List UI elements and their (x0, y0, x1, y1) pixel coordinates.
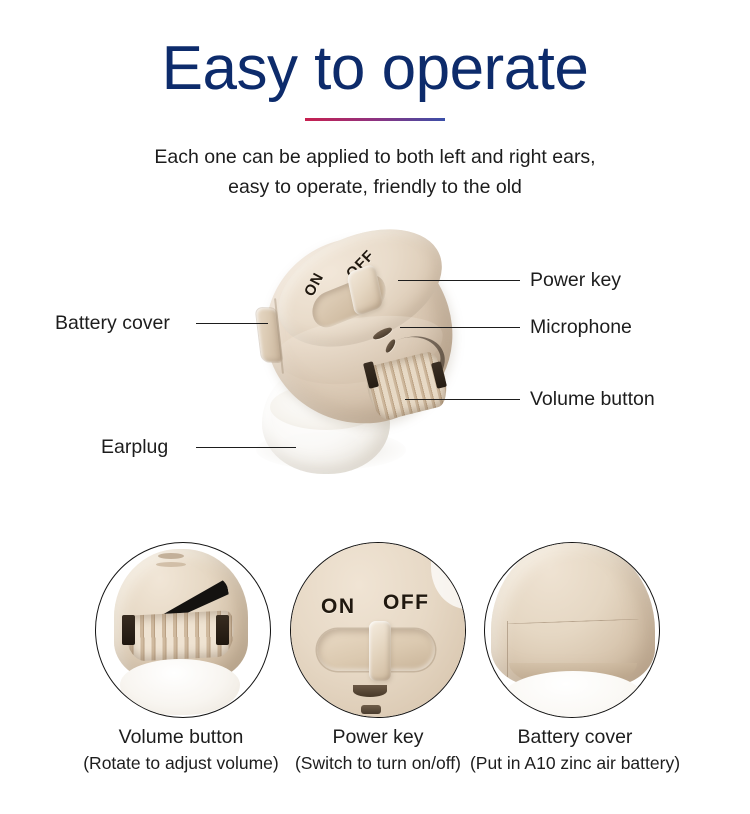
power-closeup-off-label: OFF (383, 591, 430, 615)
detail-circles-row: ON OFF (0, 540, 750, 740)
subtitle-line-1: Each one can be applied to both left and… (0, 142, 750, 172)
callout-power-key: Power key (530, 269, 621, 292)
power-closeup-microphone-slot (353, 685, 387, 697)
power-closeup-microphone-slot-lower (361, 705, 381, 714)
volume-closeup-top-slot-a (158, 553, 184, 559)
leader-line-battery-cover (196, 323, 268, 324)
leader-line-microphone (400, 327, 520, 328)
caption-battery-cover: Battery cover (Put in A10 zinc air batte… (430, 724, 720, 776)
detail-circle-volume-button (95, 542, 271, 718)
volume-closeup-earplug (120, 659, 240, 715)
power-closeup-on-label: ON (321, 595, 356, 619)
page-subtitle: Each one can be applied to both left and… (0, 142, 750, 202)
callout-volume-button: Volume button (530, 388, 655, 411)
title-underline-rule (305, 118, 445, 121)
battery-closeup-seam-vertical (507, 621, 508, 677)
callout-battery-cover: Battery cover (55, 312, 170, 335)
callout-earplug: Earplug (101, 436, 168, 459)
caption-battery-cover-title: Battery cover (430, 724, 720, 750)
volume-closeup-slot-left (122, 615, 135, 645)
battery-closeup-earplug (503, 671, 643, 718)
detail-circle-battery-cover (484, 542, 660, 718)
volume-closeup-top-slot-b (156, 562, 186, 567)
leader-line-earplug (196, 447, 296, 448)
page-title: Easy to operate (0, 34, 750, 104)
callout-microphone: Microphone (530, 316, 632, 339)
hearing-aid-device-image: ON OFF (252, 234, 462, 464)
volume-closeup-slot-right (216, 615, 229, 645)
leader-line-volume-button (405, 399, 520, 400)
caption-battery-cover-subtitle: (Put in A10 zinc air battery) (430, 750, 720, 776)
product-infographic: Easy to operate Each one can be applied … (0, 0, 750, 814)
leader-line-power-key (398, 280, 520, 281)
power-closeup-switch-knob (369, 621, 391, 681)
hero-illustration: ON OFF Battery cover Earplug Power key M… (0, 216, 750, 516)
detail-circle-power-key: ON OFF (290, 542, 466, 718)
subtitle-line-2: easy to operate, friendly to the old (0, 172, 750, 202)
